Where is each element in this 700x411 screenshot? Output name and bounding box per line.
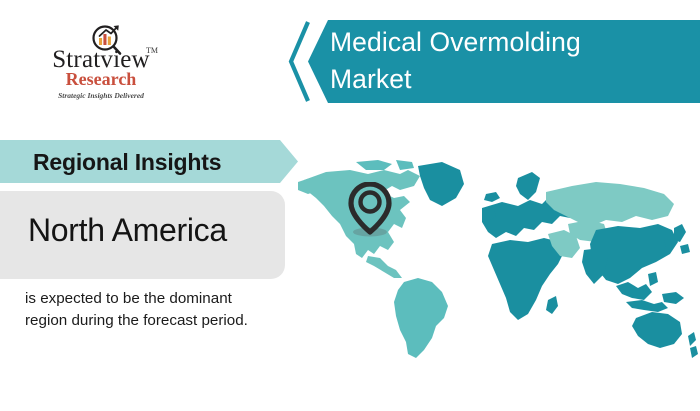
regional-insights-label: Regional Insights [33,149,221,176]
map-region-arctic-islands [356,160,392,170]
chevron-left-icon [288,20,310,103]
map-region-australia [632,312,682,348]
map-region-southeast-asia [616,282,652,300]
map-region-iceland [484,192,500,202]
page-title-line-1: Medical Overmolding [330,27,581,57]
map-region-scandinavia [516,172,540,200]
map-region-japan [674,224,686,242]
brand-secondary-word: Research [26,69,176,90]
location-pin-icon [348,182,392,238]
regional-insights-infographic: Stratview TM Research Strategic Insights… [0,0,700,411]
page-title-line-2: Market [330,64,412,94]
map-region-central-america [366,256,402,278]
map-region-russia [546,182,674,226]
map-region-madagascar [546,296,558,314]
map-region-indonesia [626,300,668,312]
trademark-symbol: TM [146,46,158,55]
brand-tagline: Strategic Insights Delivered [26,91,176,100]
page-title: Medical Overmolding Market [330,24,690,98]
map-region-new-zealand-2 [690,346,698,358]
map-region-greenland [418,162,464,206]
region-name: North America [28,212,227,249]
map-region-japan-2 [680,244,690,254]
map-region-new-zealand [688,332,696,346]
map-region-arctic-islands-2 [396,160,414,170]
map-region-india [582,248,608,284]
map-region-philippines [648,272,658,286]
region-description-line-1: is expected to be the dominant [25,290,232,307]
brand-logo: Stratview TM Research Strategic Insights… [26,22,176,102]
map-region-new-guinea [662,292,684,304]
map-region-south-america [394,278,448,358]
